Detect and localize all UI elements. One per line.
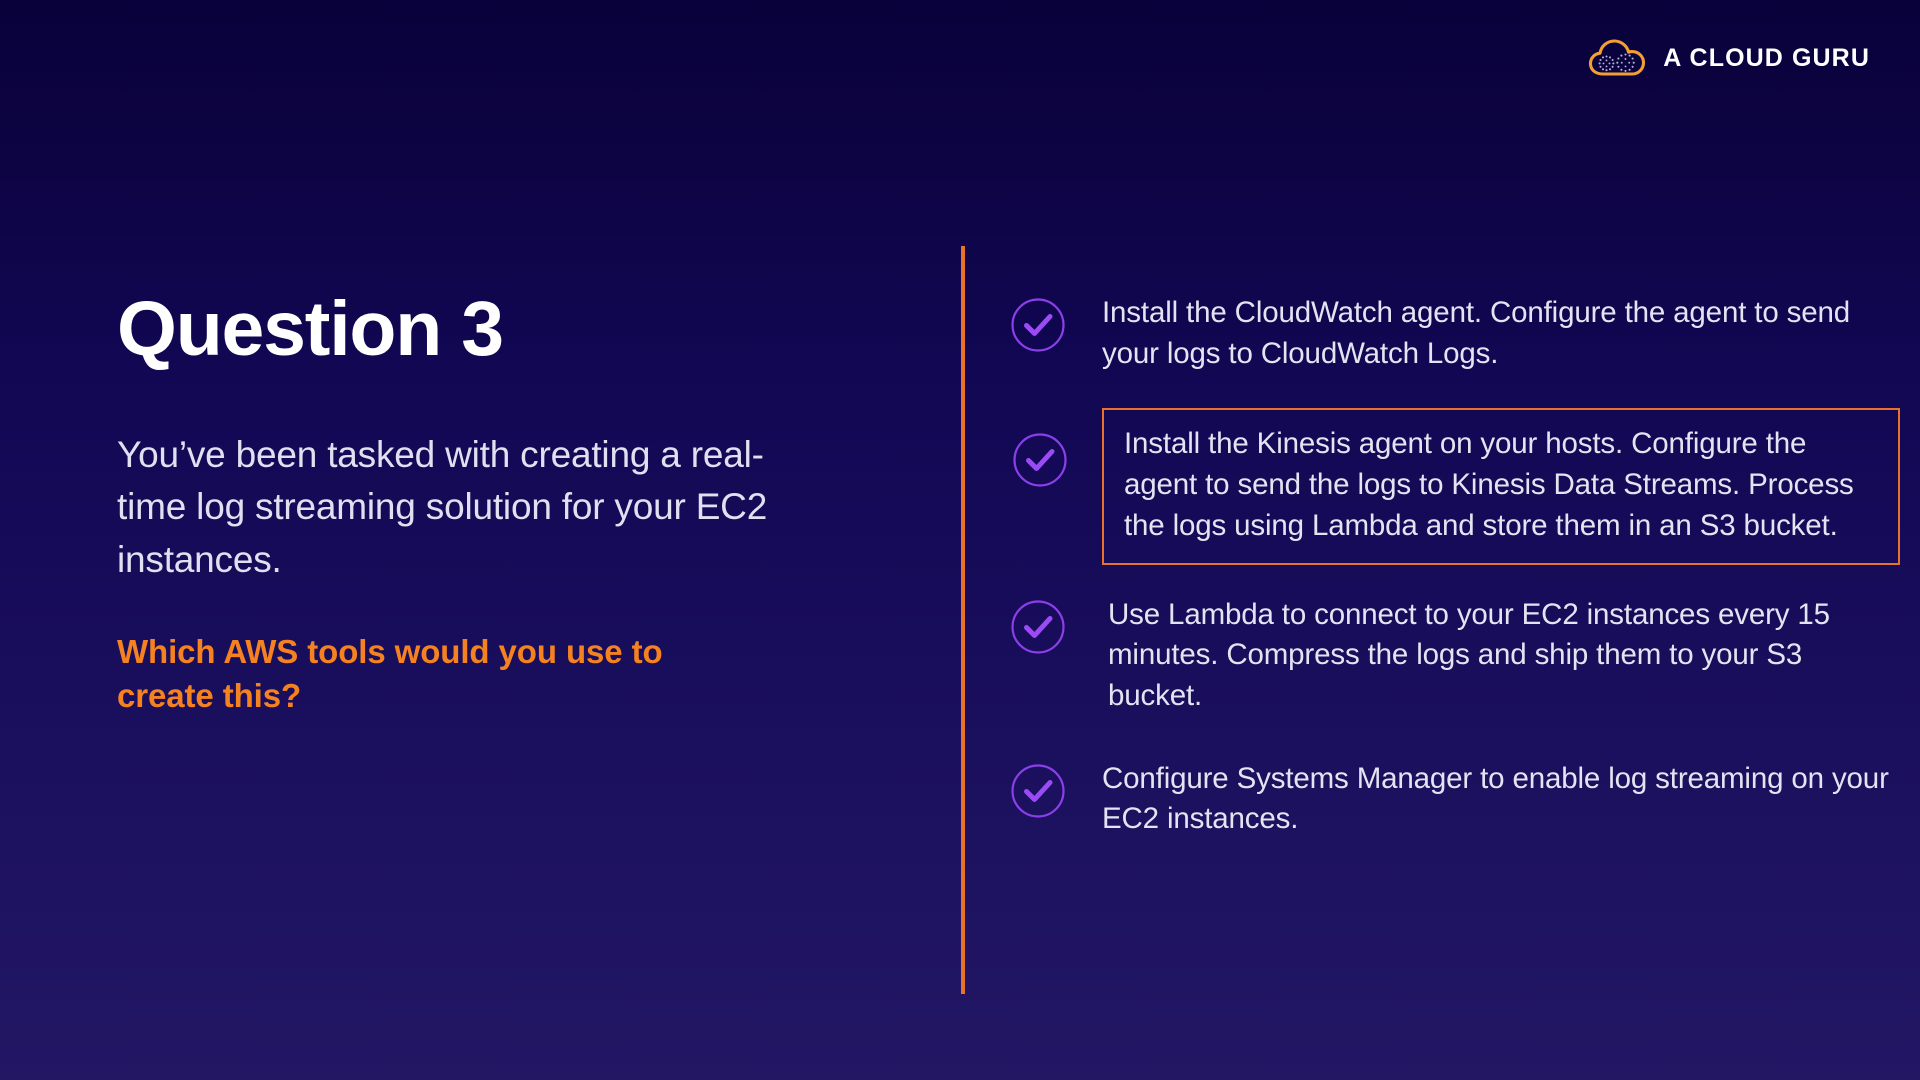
page-title: Question 3 bbox=[117, 290, 897, 369]
answer-text: Configure Systems Manager to enable log … bbox=[1102, 759, 1900, 840]
check-circle-icon bbox=[1010, 293, 1102, 353]
question-panel: Question 3 You’ve been tasked with creat… bbox=[117, 290, 897, 717]
cloud-icon bbox=[1588, 38, 1646, 78]
vertical-divider bbox=[961, 246, 965, 994]
answer-option-1[interactable]: Install the CloudWatch agent. Configure … bbox=[1010, 285, 1900, 382]
answer-option-3[interactable]: Use Lambda to connect to your EC2 instan… bbox=[1010, 587, 1900, 725]
answer-text: Use Lambda to connect to your EC2 instan… bbox=[1102, 595, 1900, 717]
check-circle-icon bbox=[1010, 595, 1102, 655]
question-prompt: Which AWS tools would you use to create … bbox=[117, 630, 757, 717]
answer-text: Install the Kinesis agent on your hosts.… bbox=[1104, 424, 1898, 546]
answers-list: Install the CloudWatch agent. Configure … bbox=[1010, 285, 1900, 848]
check-circle-icon bbox=[1012, 428, 1068, 488]
answer-option-2-selected[interactable]: Install the Kinesis agent on your hosts.… bbox=[1102, 408, 1900, 564]
check-circle-icon bbox=[1010, 759, 1102, 819]
brand-name: A CLOUD GURU bbox=[1663, 44, 1870, 73]
slide-root: A CLOUD GURU Question 3 You’ve been task… bbox=[0, 0, 1920, 1080]
question-body: You’ve been tasked with creating a real-… bbox=[117, 429, 817, 587]
answer-text: Install the CloudWatch agent. Configure … bbox=[1102, 293, 1900, 374]
answer-option-4[interactable]: Configure Systems Manager to enable log … bbox=[1010, 751, 1900, 848]
brand-logo: A CLOUD GURU bbox=[1588, 38, 1870, 78]
